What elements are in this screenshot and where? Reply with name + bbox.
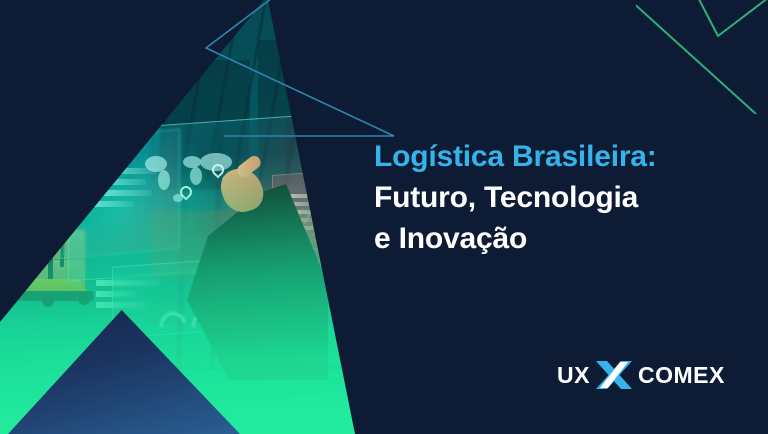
promo-banner: Logística Brasileira: Futuro, Tecnologia… bbox=[0, 0, 768, 434]
headline-line-2: Futuro, Tecnologia bbox=[374, 177, 714, 218]
x-mark-icon bbox=[594, 358, 634, 392]
brand-logo[interactable]: UX COMEX bbox=[557, 358, 725, 392]
headline-line-3: e Inovação bbox=[374, 218, 714, 259]
logo-text-ux: UX bbox=[557, 364, 590, 387]
cardboard-box bbox=[28, 183, 72, 207]
page-title: Logística Brasileira: Futuro, Tecnologia… bbox=[374, 136, 714, 259]
chevron-outline-teal-icon bbox=[196, 0, 406, 146]
headline-line-1: Logística Brasileira: bbox=[374, 136, 714, 177]
cardboard-box bbox=[20, 205, 78, 231]
logo-text-comex: COMEX bbox=[638, 364, 725, 387]
chevron-lines-green-icon bbox=[636, 0, 768, 114]
